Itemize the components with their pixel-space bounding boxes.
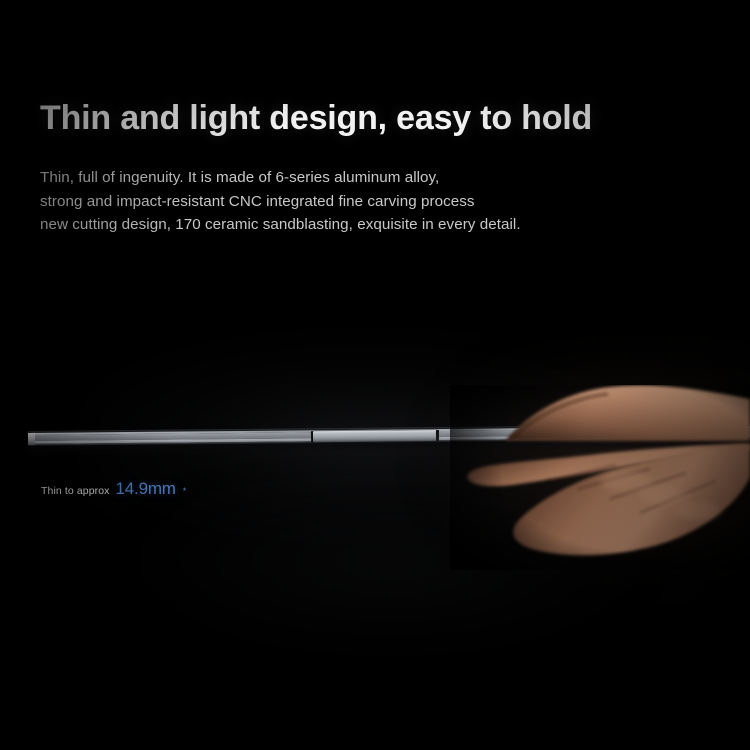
hand-shadow-falloff: [450, 385, 750, 570]
description-line-3: new cutting design, 170 ceramic sandblas…: [40, 213, 521, 237]
laptop-hinge-section: [313, 430, 437, 443]
hand-holding-device: [450, 385, 750, 570]
laptop-left-end-cap: [28, 433, 35, 444]
description-line-2: strong and impact-resistant CNC integrat…: [40, 190, 521, 214]
description-line-1: Thin, full of ingenuity. It is made of 6…: [40, 166, 521, 190]
thickness-value: 14.9mm: [116, 479, 176, 499]
promo-banner: Thin and light design, easy to hold Thin…: [0, 0, 750, 750]
hand-illustration: [450, 385, 750, 570]
laptop-hinge-gap-right: [436, 430, 439, 442]
thickness-caption: Thin to approx 14.9mm *: [41, 479, 186, 499]
footnote-marker: *: [183, 486, 187, 496]
page-title: Thin and light design, easy to hold: [40, 100, 592, 137]
thickness-label: Thin to approx: [41, 485, 110, 497]
description-text: Thin, full of ingenuity. It is made of 6…: [40, 166, 521, 237]
